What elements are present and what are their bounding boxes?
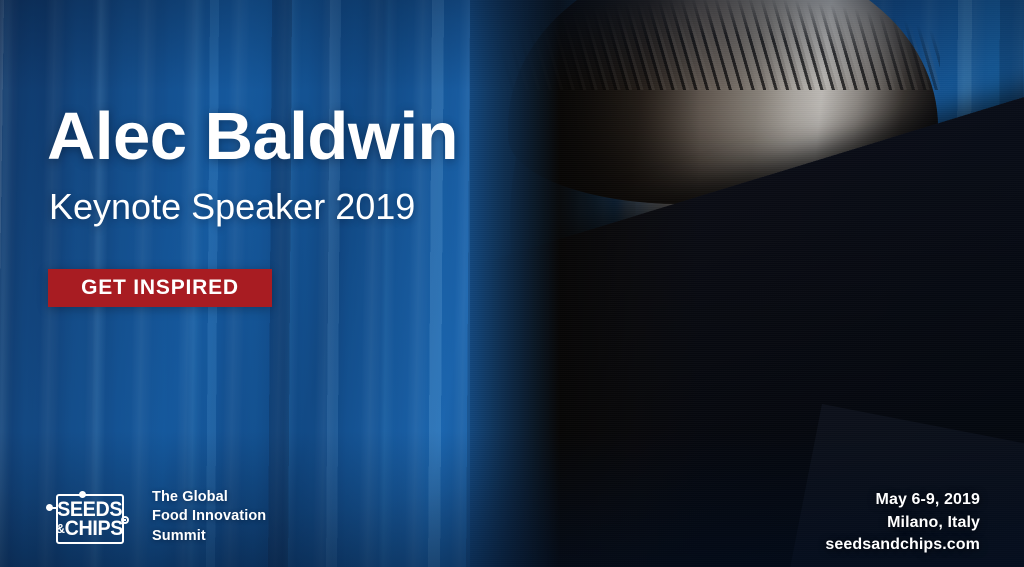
- logo-tagline-line-3: Summit: [152, 527, 266, 546]
- logo-word-chips-text: CHIPS: [65, 517, 123, 540]
- seeds-and-chips-logo-mark: SEEDS &CHIPS: [46, 486, 134, 548]
- event-dates: May 6-9, 2019: [825, 489, 980, 512]
- event-info: May 6-9, 2019 Milano, Italy seedsandchip…: [825, 489, 980, 557]
- get-inspired-button[interactable]: GET INSPIRED: [48, 269, 272, 307]
- page-subtitle: Keynote Speaker 2019: [49, 189, 415, 225]
- event-website[interactable]: seedsandchips.com: [825, 534, 980, 557]
- poster-canvas: Alec Baldwin Keynote Speaker 2019 GET IN…: [0, 0, 1024, 567]
- logo-tagline: The Global Food Innovation Summit: [152, 488, 266, 546]
- page-title: Alec Baldwin: [47, 103, 458, 170]
- event-location: Milano, Italy: [825, 512, 980, 535]
- logo-word-chips: &CHIPS: [57, 519, 124, 538]
- get-inspired-button-label: GET INSPIRED: [81, 276, 239, 300]
- logo-frame: SEEDS &CHIPS: [56, 494, 124, 544]
- logo-tagline-line-1: The Global: [152, 488, 266, 507]
- seeds-and-chips-logo[interactable]: SEEDS &CHIPS The Global Food Innovation …: [46, 486, 266, 548]
- logo-tagline-line-2: Food Innovation: [152, 507, 266, 526]
